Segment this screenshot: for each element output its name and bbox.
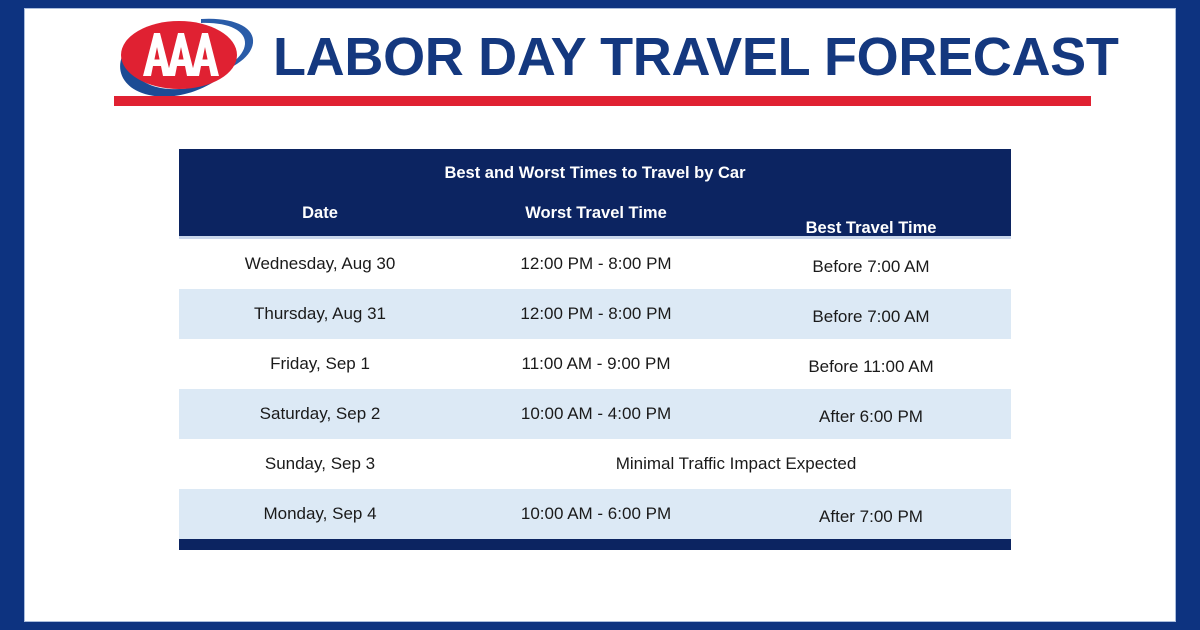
cell-best-travel-time: Before 7:00 AM (731, 238, 1011, 290)
poster-root: LABOR DAY TRAVEL FORECAST Best and Worst… (0, 0, 1200, 630)
table-foot-bar-fill (179, 539, 1011, 550)
table-caption-row: Best and Worst Times to Travel by Car (179, 149, 1011, 190)
cell-date: Wednesday, Aug 30 (179, 238, 461, 290)
poster-canvas: LABOR DAY TRAVEL FORECAST Best and Worst… (24, 8, 1176, 622)
cell-worst-travel-time: 11:00 AM - 9:00 PM (461, 339, 731, 389)
cell-best-travel-time-label: After 7:00 PM (819, 507, 923, 526)
poster-header: LABOR DAY TRAVEL FORECAST (25, 9, 1176, 117)
table-body: Wednesday, Aug 30 12:00 PM - 8:00 PM Bef… (179, 238, 1011, 551)
table-caption: Best and Worst Times to Travel by Car (179, 149, 1011, 190)
cell-best-travel-time-label: Before 7:00 AM (812, 257, 929, 276)
cell-date: Thursday, Aug 31 (179, 289, 461, 339)
cell-best-travel-time: After 7:00 PM (731, 489, 1011, 539)
table-row: Monday, Sep 4 10:00 AM - 6:00 PM After 7… (179, 489, 1011, 539)
table-row: Sunday, Sep 3 Minimal Traffic Impact Exp… (179, 439, 1011, 489)
column-header-date: Date (179, 190, 461, 238)
cell-best-travel-time: Before 7:00 AM (731, 289, 1011, 339)
cell-best-travel-time-label: Before 7:00 AM (812, 307, 929, 326)
table-head: Best and Worst Times to Travel by Car Da… (179, 149, 1011, 238)
column-header-best-travel-time: Best Travel Time (731, 190, 1011, 238)
cell-best-travel-time-label: Before 11:00 AM (808, 357, 933, 376)
cell-worst-travel-time: 12:00 PM - 8:00 PM (461, 238, 731, 290)
travel-times-table: Best and Worst Times to Travel by Car Da… (179, 149, 1011, 550)
cell-best-travel-time: After 6:00 PM (731, 389, 1011, 439)
header-red-rule (114, 96, 1091, 106)
cell-worst-travel-time: 10:00 AM - 6:00 PM (461, 489, 731, 539)
table-row: Friday, Sep 1 11:00 AM - 9:00 PM Before … (179, 339, 1011, 389)
column-header-worst-travel-time: Worst Travel Time (461, 190, 731, 238)
cell-worst-travel-time: 10:00 AM - 4:00 PM (461, 389, 731, 439)
cell-best-travel-time-label: After 6:00 PM (819, 407, 923, 426)
cell-date: Saturday, Sep 2 (179, 389, 461, 439)
table-row: Saturday, Sep 2 10:00 AM - 4:00 PM After… (179, 389, 1011, 439)
cell-worst-travel-time: 12:00 PM - 8:00 PM (461, 289, 731, 339)
table-row: Wednesday, Aug 30 12:00 PM - 8:00 PM Bef… (179, 238, 1011, 290)
cell-date: Sunday, Sep 3 (179, 439, 461, 489)
cell-best-travel-time: Before 11:00 AM (731, 339, 1011, 389)
table-column-headers: Date Worst Travel Time Best Travel Time (179, 190, 1011, 238)
cell-date: Monday, Sep 4 (179, 489, 461, 539)
cell-date: Friday, Sep 1 (179, 339, 461, 389)
table-foot-bar (179, 539, 1011, 550)
page-title: LABOR DAY TRAVEL FORECAST (273, 23, 1133, 91)
column-header-best-travel-time-label: Best Travel Time (806, 219, 937, 237)
cell-merged-note: Minimal Traffic Impact Expected (461, 439, 1011, 489)
table-row: Thursday, Aug 31 12:00 PM - 8:00 PM Befo… (179, 289, 1011, 339)
aaa-logo (105, 13, 265, 105)
